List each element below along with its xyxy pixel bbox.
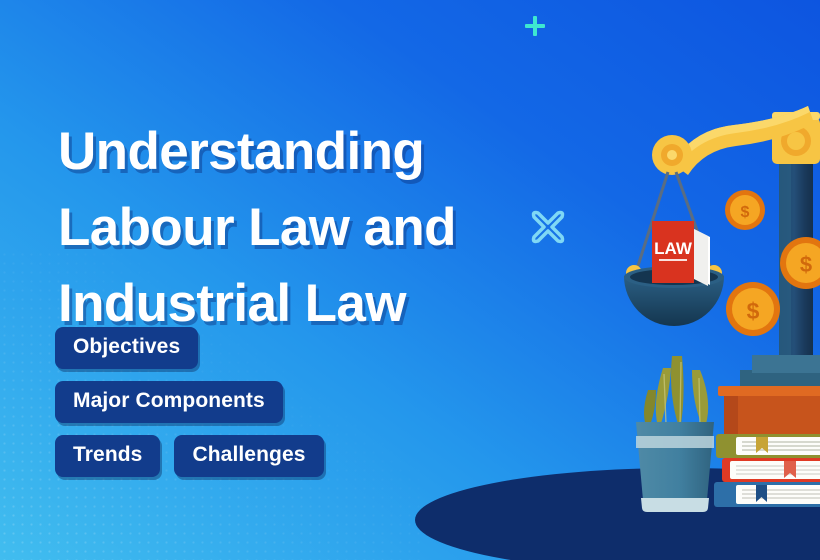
pill-row: Major Components — [55, 381, 324, 423]
law-book-icon: LAW — [652, 221, 710, 286]
pill-row: Trends Challenges — [55, 435, 324, 477]
topic-pill-objectives[interactable]: Objectives — [55, 327, 198, 369]
topic-pill-major-components[interactable]: Major Components — [55, 381, 283, 423]
book-stack-icon — [714, 434, 820, 507]
topic-pill-challenges[interactable]: Challenges — [174, 435, 323, 477]
slide-canvas: LAW $ $ $ — [0, 0, 820, 560]
dollar-coin-icon: $ — [725, 190, 765, 230]
law-book-label: LAW — [654, 239, 693, 258]
dollar-coin-icon: $ — [726, 282, 780, 336]
pill-row: Objectives — [55, 327, 324, 369]
svg-text:$: $ — [747, 298, 760, 324]
back-shelf — [740, 355, 820, 390]
topic-pill-list: Objectives Major Components Trends Chall… — [55, 327, 324, 489]
potted-plant-icon — [636, 356, 714, 512]
svg-text:$: $ — [800, 252, 812, 277]
topic-pill-trends[interactable]: Trends — [55, 435, 160, 477]
page-title: Understanding Labour Law and Industrial … — [58, 114, 528, 343]
svg-text:$: $ — [741, 204, 750, 221]
